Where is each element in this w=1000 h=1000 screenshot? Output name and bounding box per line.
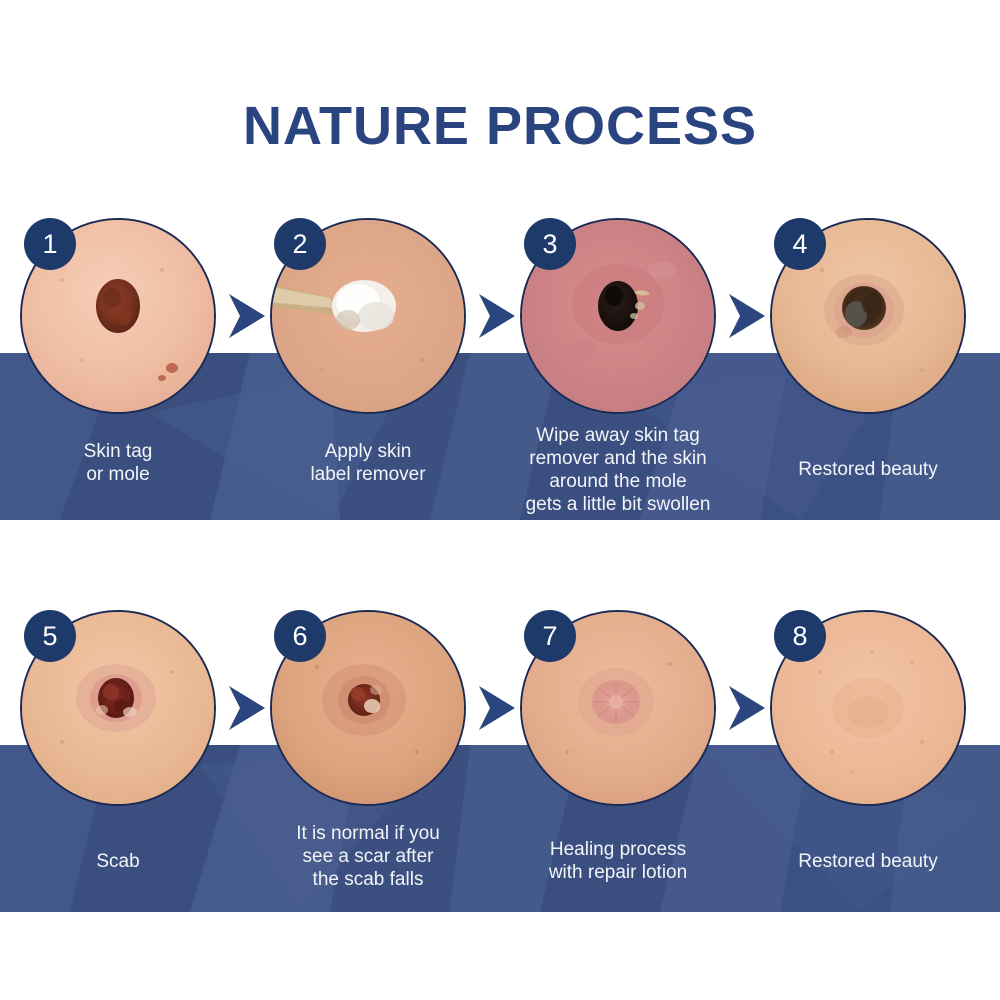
- chevron-right-arrow-3: [727, 291, 767, 341]
- step-caption-1: Skin tagor mole: [0, 440, 256, 486]
- step-number-badge-3: 3: [524, 218, 576, 270]
- nature-process-infographic: NATURE PROCESS: [0, 0, 1000, 1000]
- chevron-right-icon: [227, 683, 267, 733]
- chevron-right-arrow-6: [727, 683, 767, 733]
- chevron-right-icon: [477, 683, 517, 733]
- chevron-right-icon: [727, 291, 767, 341]
- step-caption-3: Wipe away skin tagremover and the skinar…: [480, 424, 756, 516]
- step-number-badge-1: 1: [24, 218, 76, 270]
- step-caption-7: Healing processwith repair lotion: [480, 838, 756, 884]
- step-caption-8: Restored beauty: [730, 850, 1000, 873]
- chevron-right-arrow-2: [477, 291, 517, 341]
- step-number-badge-7: 7: [524, 610, 576, 662]
- step-caption-4: Restored beauty: [730, 458, 1000, 481]
- step-number-badge-6: 6: [274, 610, 326, 662]
- step-caption-5: Scab: [0, 850, 256, 873]
- step-number-badge-2: 2: [274, 218, 326, 270]
- page-title: NATURE PROCESS: [0, 95, 1000, 157]
- chevron-right-arrow-5: [477, 683, 517, 733]
- step-number-badge-5: 5: [24, 610, 76, 662]
- step-caption-2: Apply skinlabel remover: [230, 440, 506, 486]
- chevron-right-icon: [727, 683, 767, 733]
- step-number-badge-4: 4: [774, 218, 826, 270]
- step-number-badge-8: 8: [774, 610, 826, 662]
- chevron-right-icon: [477, 291, 517, 341]
- chevron-right-arrow-4: [227, 683, 267, 733]
- step-caption-6: It is normal if yousee a scar afterthe s…: [230, 822, 506, 891]
- chevron-right-icon: [227, 291, 267, 341]
- chevron-right-arrow-1: [227, 291, 267, 341]
